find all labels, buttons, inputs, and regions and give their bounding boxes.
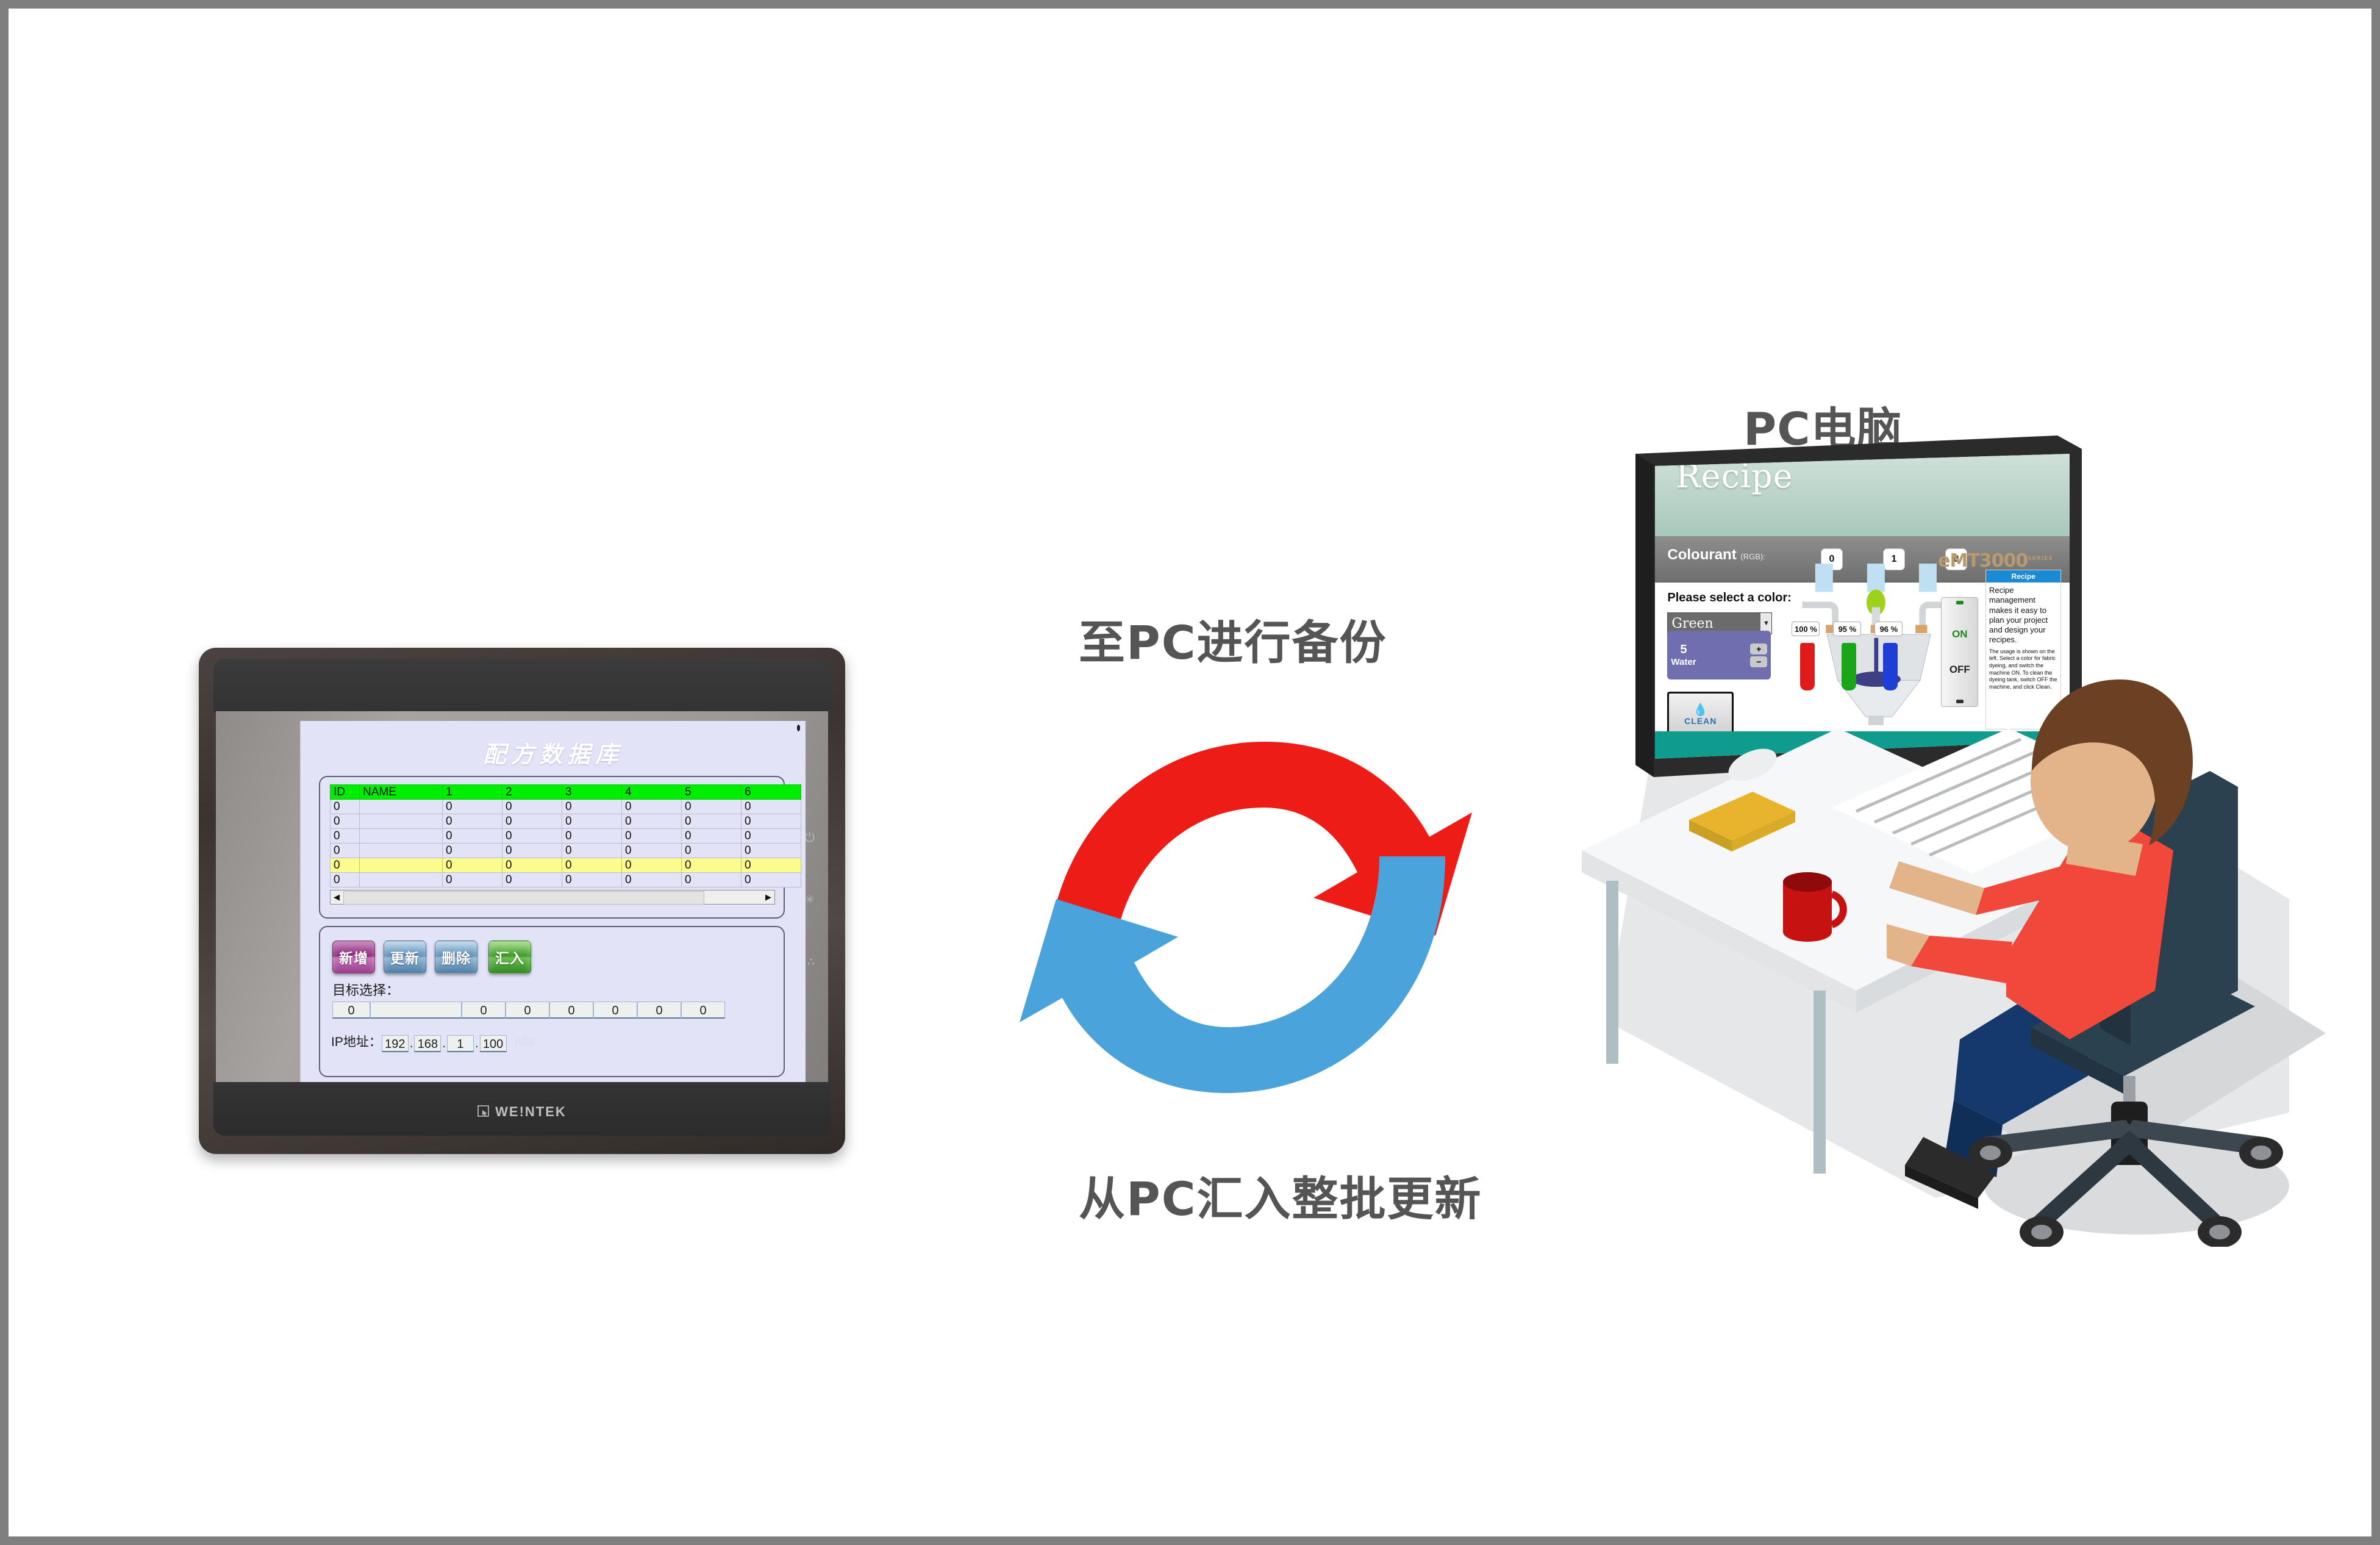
scroll-right-arrow-icon[interactable]: ▶ [762, 891, 774, 903]
delete-button[interactable]: 删除 [435, 941, 477, 973]
hmi-top-bezel [213, 659, 831, 712]
switch-on-label: ON [1952, 628, 1968, 640]
tube-green [1842, 643, 1856, 690]
cell-5: 0 [682, 858, 742, 873]
update-button[interactable]: 更新 [384, 941, 426, 973]
pc-desk-scene: Recipe Colourant (RGB): 0 1 0 eMT3000SER… [1570, 436, 2356, 1247]
recipe-tab[interactable]: Recipe [1986, 570, 2060, 583]
scrollbar-thumb[interactable] [343, 891, 704, 905]
target-value-2[interactable]: 0 [506, 1002, 549, 1019]
brand-3000: 3000 [1979, 550, 2028, 572]
water-readout: 5 Water [1671, 642, 1696, 668]
cell-3: 0 [562, 873, 622, 887]
cell-5: 0 [682, 829, 742, 844]
status-text: Idle [507, 1035, 535, 1049]
table-row[interactable]: 0 0 0 0 0 0 0 [331, 829, 801, 844]
upper-arm [1911, 936, 2012, 983]
table-header-row: ID NAME 1 2 3 4 5 6 [331, 785, 801, 800]
import-button[interactable]: 汇入 [488, 941, 531, 973]
recipe-table[interactable]: ID NAME 1 2 3 4 5 6 [330, 784, 801, 887]
ip-dot-2: . [441, 1037, 447, 1052]
percent-blue: 96 % [1874, 622, 1903, 636]
th-3: 3 [562, 785, 622, 800]
cell-id: 0 [331, 844, 360, 858]
on-led-icon [1956, 601, 1964, 604]
cell-5: 0 [682, 873, 742, 887]
cell-id: 0 [331, 858, 360, 873]
cell-3: 0 [562, 800, 622, 814]
recipe-panel-heading: Recipe management makes it easy to plan … [1986, 583, 2060, 647]
clean-button-label: CLEAN [1684, 716, 1717, 726]
table-row-selected[interactable]: 0 0 0 0 0 0 0 [331, 858, 801, 873]
hmi-screen: 配方数据库 配方数据库 配方编辑 PLC ID [300, 721, 806, 1111]
flow-label-plc: PLC [300, 1011, 304, 1026]
th-name: NAME [360, 785, 443, 800]
target-value-3[interactable]: 0 [549, 1002, 593, 1019]
ip-octet-1[interactable]: 192 [382, 1035, 409, 1052]
cell-2: 0 [502, 844, 562, 858]
colourant-label-rgb: (RGB): [1740, 552, 1765, 561]
cell-name [360, 873, 443, 887]
cell-1: 0 [443, 800, 502, 814]
cell-name [360, 844, 443, 858]
cell-1: 0 [443, 829, 502, 844]
cell-name [360, 800, 443, 814]
cell-1: 0 [443, 873, 502, 887]
cell-3: 0 [562, 829, 622, 844]
cell-4: 0 [622, 858, 682, 873]
target-value-6[interactable]: 0 [681, 1002, 725, 1019]
colourant-label: Colourant (RGB): [1667, 547, 1765, 564]
forearm-2 [1889, 861, 1984, 915]
water-plus-button[interactable]: + [1750, 643, 1767, 654]
cell-4: 0 [622, 814, 682, 829]
network-icon[interactable]: ⛬ [807, 955, 815, 967]
power-icon[interactable]: ⏻ [804, 831, 815, 845]
backup-to-pc-label: 至PC进行备份 [1079, 605, 1387, 672]
ip-address-row: IP地址： 192 . 168 . 1 . 100 Idle [331, 1032, 535, 1052]
add-button[interactable]: 新增 [332, 941, 375, 973]
ip-dot-1: . [409, 1037, 415, 1052]
cell-6: 0 [742, 858, 801, 873]
select-color-label: Please select a color: [1667, 591, 1791, 605]
water-drop-icon: 💧 [1693, 704, 1708, 716]
cell-2: 0 [502, 814, 562, 829]
percent-green: 95 % [1833, 622, 1861, 636]
cell-name [360, 814, 443, 829]
cell-1: 0 [443, 858, 502, 873]
cell-6: 0 [742, 800, 801, 814]
ip-octet-3[interactable]: 1 [447, 1035, 474, 1052]
cell-2: 0 [502, 858, 562, 873]
weintek-mark-icon [477, 1105, 491, 1119]
cell-6: 0 [742, 814, 801, 829]
water-label: Water [1671, 657, 1696, 668]
tube-red [1800, 643, 1815, 690]
cell-id: 0 [331, 829, 360, 844]
weintek-brand-text: WE!NTEK [495, 1104, 566, 1120]
water-value: 5 [1680, 643, 1687, 656]
brand-series: SERIES [2028, 556, 2053, 562]
hmi-inner-frame: ⏻ ✳ ⛬ 配方数据库 配方数据库 配方编辑 PLC [216, 711, 828, 1120]
cell-5: 0 [682, 844, 742, 858]
import-from-pc-label: 从PC汇入整批更新 [1079, 1161, 1482, 1228]
cell-id: 0 [331, 814, 360, 829]
th-id: ID [331, 785, 360, 800]
flow-label-database: 配方数据库 [300, 851, 304, 870]
scroll-left-arrow-icon[interactable]: ◀ [331, 891, 343, 903]
ip-octet-2[interactable]: 168 [414, 1035, 441, 1052]
flow-label-edit: 配方编辑 [300, 931, 304, 949]
th-1: 1 [443, 785, 502, 800]
ip-dot-3: . [474, 1037, 480, 1052]
th-2: 2 [502, 785, 562, 800]
recipe-header-band: Recipe [1655, 454, 2070, 537]
cell-name [360, 829, 443, 844]
recipe-control-group: 新增 更新 删除 汇入 目标选择： 0 0 0 0 0 0 0 [319, 926, 785, 1077]
screen-corner-dot [797, 725, 800, 731]
cell-2: 0 [502, 829, 562, 844]
water-stepper[interactable]: 5 Water + − [1667, 631, 1771, 679]
cell-id: 0 [331, 800, 360, 814]
target-value-1[interactable]: 0 [462, 1002, 506, 1019]
percent-red: 100 % [1792, 622, 1820, 636]
table-row[interactable]: 0 0 0 0 0 0 0 [331, 800, 801, 814]
table-row[interactable]: 0 0 0 0 0 0 0 [331, 814, 801, 829]
selected-color-value: Green [1668, 616, 1713, 631]
cell-6: 0 [742, 829, 801, 844]
cell-name [360, 858, 443, 873]
target-select-label: 目标选择： [332, 980, 399, 999]
hmi-bottom-bezel: WE!NTEK [213, 1082, 831, 1136]
colourant-label-text: Colourant [1667, 547, 1736, 563]
table-row[interactable]: 0 0 0 0 0 0 0 [331, 844, 801, 858]
cell-5: 0 [682, 814, 742, 829]
cell-2: 0 [502, 800, 562, 814]
ip-address-label: IP地址： [331, 1032, 382, 1052]
table-horizontal-scrollbar[interactable]: ◀ ▶ [330, 890, 775, 905]
cell-1: 0 [443, 814, 502, 829]
cell-2: 0 [502, 873, 562, 887]
cell-id: 0 [331, 873, 360, 887]
th-4: 4 [622, 785, 682, 800]
brightness-icon[interactable]: ✳ [805, 893, 815, 907]
target-name-field[interactable] [370, 1002, 462, 1019]
target-field-row: 0 0 0 0 0 0 0 [332, 1002, 725, 1019]
cell-3: 0 [562, 858, 622, 873]
screen-title: 配方数据库 [301, 736, 806, 769]
weintek-brand-logo: WE!NTEK [213, 1104, 831, 1120]
cell-4: 0 [622, 800, 682, 814]
cell-5: 0 [682, 800, 742, 814]
hmi-device: ⏻ ✳ ⛬ 配方数据库 配方数据库 配方编辑 PLC [199, 648, 845, 1154]
cell-1: 0 [443, 844, 502, 858]
water-minus-button[interactable]: − [1750, 656, 1767, 667]
cell-6: 0 [742, 873, 801, 887]
cell-3: 0 [562, 844, 622, 858]
cell-4: 0 [622, 829, 682, 844]
recipe-table-group: ID NAME 1 2 3 4 5 6 [319, 776, 785, 919]
target-value-5[interactable]: 0 [637, 1002, 681, 1019]
cell-4: 0 [622, 873, 682, 887]
cell-6: 0 [742, 844, 801, 858]
person-and-chair [1887, 649, 2362, 1247]
cell-4: 0 [622, 844, 682, 858]
target-value-4[interactable]: 0 [593, 1002, 637, 1019]
th-5: 5 [682, 785, 742, 800]
th-6: 6 [742, 785, 801, 800]
page-canvas: 至PC进行备份 从PC汇入整批更新 ⏻ ✳ ⛬ 配方数据库 配方数据库 [9, 9, 2371, 1536]
cell-3: 0 [562, 814, 622, 829]
ip-octet-4[interactable]: 100 [480, 1035, 507, 1052]
cycle-arrows [1009, 673, 1484, 1155]
water-stepper-buttons[interactable]: + − [1750, 643, 1767, 667]
table-row[interactable]: 0 0 0 0 0 0 0 [331, 873, 801, 887]
target-id-field[interactable]: 0 [332, 1002, 370, 1019]
